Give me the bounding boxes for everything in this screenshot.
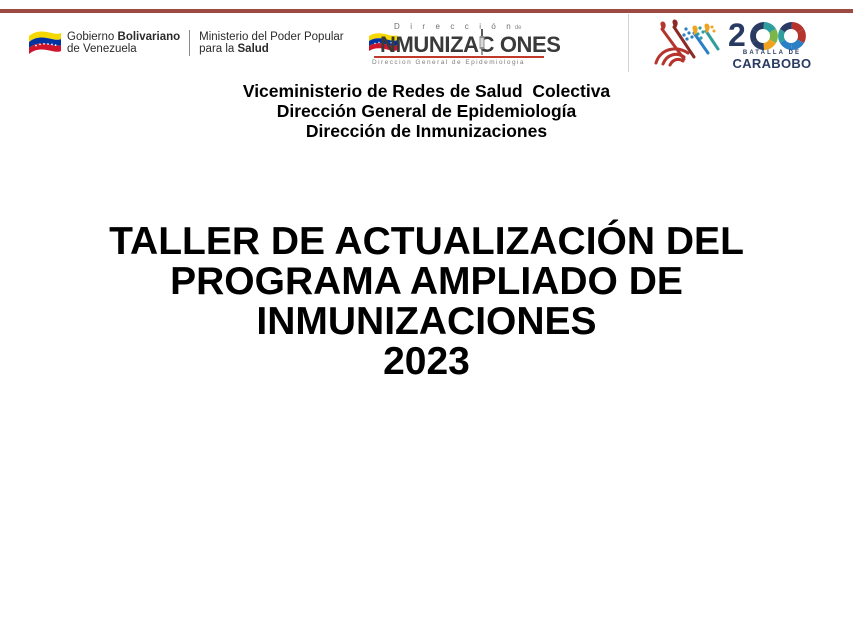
carabobo-spears-icon — [650, 19, 726, 69]
main-title-line-3: INMUNIZACIONES — [60, 302, 793, 342]
presentation-slide: Gobierno Bolivariano de Venezuela Minist… — [0, 0, 853, 640]
ministerio-line2: para la Salud — [199, 43, 269, 55]
header-title-line-2: Dirección General de Epidemiología — [0, 101, 853, 121]
logo-direccion-inmunizaciones: D i r e c c i ó nde NMUNIZAC ONES Direcc… — [368, 20, 550, 66]
main-title-line-2: PROGRAMA AMPLIADO DE — [60, 262, 793, 302]
logo-vertical-separator — [189, 30, 190, 56]
header-title-line-3: Dirección de Inmunizaciones — [0, 121, 853, 141]
header-title-block: Viceministerio de Redes de Salud Colecti… — [0, 81, 853, 141]
header-section-divider — [628, 14, 629, 72]
venezuela-flag-ribbon-icon — [28, 28, 62, 58]
gobierno-label: Gobierno Bolivariano de Venezuela — [67, 31, 180, 56]
inmunizaciones-kicker: D i r e c c i ó nde — [394, 22, 522, 31]
carabobo-200-mark: 2 — [728, 20, 812, 68]
inmunizaciones-subtitle: Direccion General de Epidemiologia — [372, 59, 525, 66]
ministerio-line1: Ministerio del Poder Popular — [199, 31, 343, 43]
logo-bicentenario-carabobo: 2 — [650, 16, 810, 71]
ministerio-label: Ministerio del Poder Popular para la Sal… — [199, 31, 343, 56]
top-rule-divider — [0, 9, 853, 13]
gobierno-line2: de Venezuela — [67, 43, 137, 55]
carabobo-caption: BATALLA DE CARABOBO — [730, 50, 814, 71]
main-title-line-4: 2023 — [60, 342, 793, 382]
gobierno-line1: Gobierno Bolivariano — [67, 31, 180, 43]
header-title-line-1: Viceministerio de Redes de Salud Colecti… — [0, 81, 853, 101]
syringe-icon — [479, 29, 485, 55]
carabobo-line2: CARABOBO — [730, 57, 814, 71]
svg-text:2: 2 — [728, 20, 746, 50]
slide-main-title: TALLER DE ACTUALIZACIÓN DEL PROGRAMA AMP… — [60, 222, 793, 382]
logo-gobierno-bolivariano: Gobierno Bolivariano de Venezuela Minist… — [28, 23, 344, 63]
header-logo-band: Gobierno Bolivariano de Venezuela Minist… — [0, 14, 853, 74]
inmunizaciones-wordmark: NMUNIZAC ONES — [380, 32, 561, 58]
inmunizaciones-accent-rule — [374, 56, 544, 58]
main-title-line-1: TALLER DE ACTUALIZACIÓN DEL — [60, 222, 793, 262]
